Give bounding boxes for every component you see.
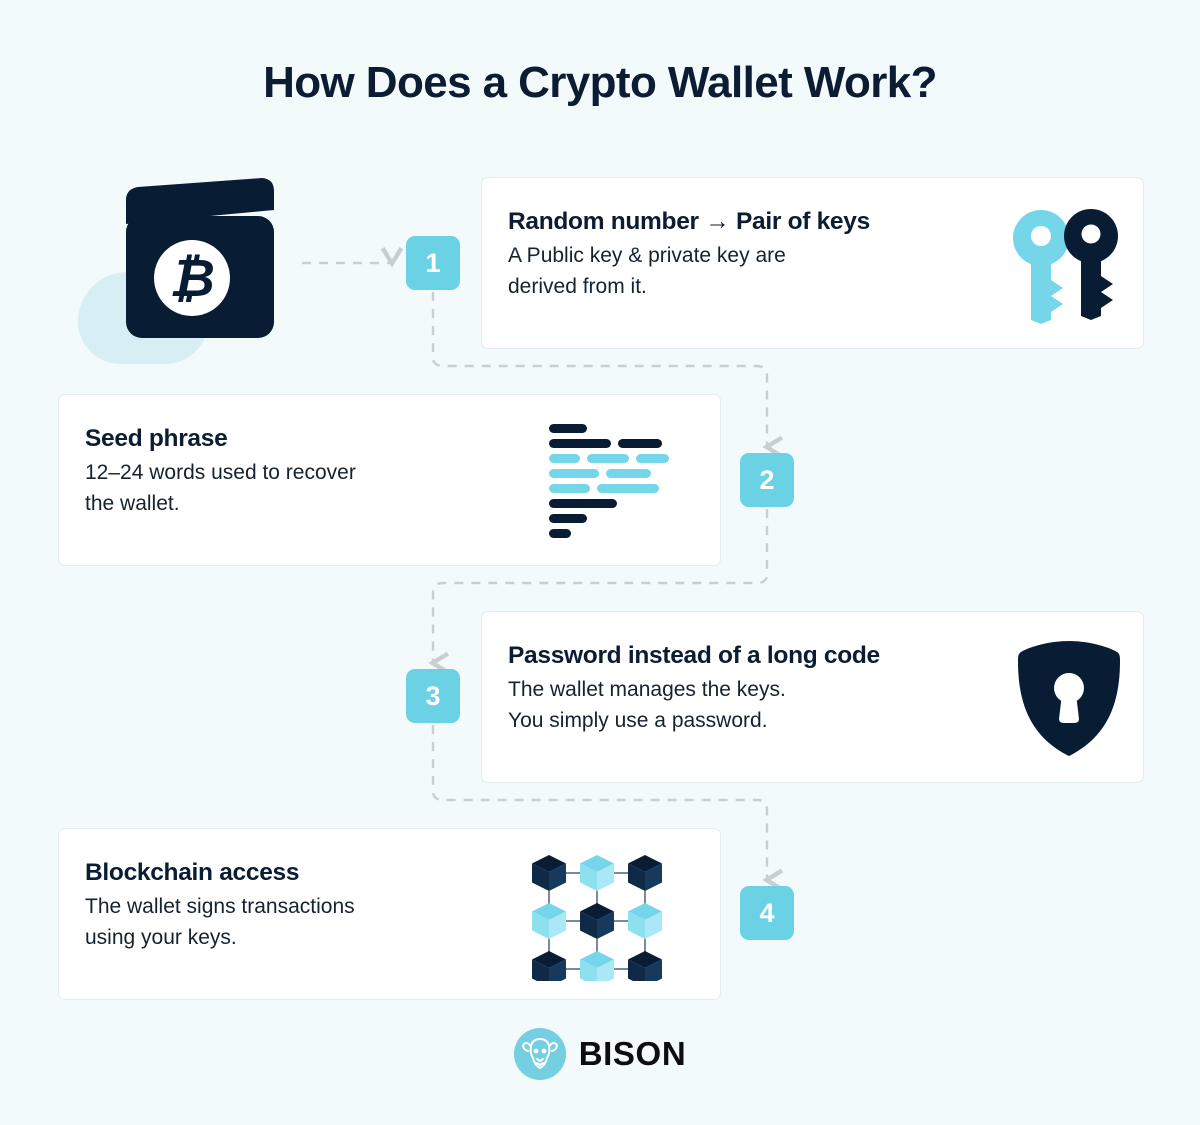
seed-bar [549, 514, 587, 523]
blockchain-cube [628, 903, 662, 939]
blockchain-cubes-icon [526, 851, 666, 986]
blockchain-cube [532, 951, 566, 981]
seed-bar [606, 469, 651, 478]
step-badge-1[interactable]: 1 [406, 236, 460, 290]
seed-bar-row [549, 454, 669, 463]
seed-bar [618, 439, 662, 448]
seed-bar [549, 454, 580, 463]
seed-bar [549, 439, 611, 448]
seed-bar [636, 454, 669, 463]
seed-bar [549, 529, 571, 538]
blockchain-cube [580, 903, 614, 939]
step-1-body: A Public key & private key are derived f… [508, 241, 870, 302]
step-badge-3[interactable]: 3 [406, 669, 460, 723]
seed-bar [549, 424, 587, 433]
step-card-1: Random number → Pair of keys A Public ke… [481, 177, 1144, 349]
step-2-title: Seed phrase [85, 425, 356, 453]
seed-bar-row [549, 514, 669, 523]
seed-bar-row [549, 529, 669, 538]
seed-bar-row [549, 469, 669, 478]
blockchain-cube [580, 855, 614, 891]
blockchain-cube [580, 951, 614, 981]
seed-phrase-icon [549, 424, 669, 544]
seed-bar-row [549, 439, 669, 448]
key-pair-icon [1011, 206, 1119, 329]
step-badge-2[interactable]: 2 [740, 453, 794, 507]
step-1-text: Random number → Pair of keys A Public ke… [508, 208, 870, 302]
step-3-body: The wallet manages the keys. You simply … [508, 675, 880, 736]
step-4-text: Blockchain access The wallet signs trans… [85, 859, 355, 953]
seed-bar-row [549, 484, 669, 493]
step-badge-4[interactable]: 4 [740, 886, 794, 940]
seed-bar [549, 484, 590, 493]
blockchain-cube [532, 855, 566, 891]
step-card-3: Password instead of a long code The wall… [481, 611, 1144, 783]
bison-wordmark: BISON [579, 1035, 687, 1073]
seed-bar-row [549, 499, 669, 508]
infographic-root: How Does a Crypto Wallet Work? ₿ Random … [0, 0, 1200, 1125]
step-3-text: Password instead of a long code The wall… [508, 642, 880, 736]
blockchain-cube [532, 903, 566, 939]
step-card-4: Blockchain access The wallet signs trans… [58, 828, 721, 1000]
step-4-body: The wallet signs transactions using your… [85, 892, 355, 953]
seed-bar [549, 469, 599, 478]
crypto-wallet-icon: ₿ [112, 178, 282, 343]
step-1-title: Random number → Pair of keys [508, 208, 870, 236]
step-4-title: Blockchain access [85, 859, 355, 887]
footer-brand: BISON [0, 1028, 1200, 1080]
seed-bar-row [549, 424, 669, 433]
step-2-body: 12–24 words used to recover the wallet. [85, 458, 356, 519]
shield-keyhole-icon [1017, 639, 1121, 762]
blockchain-cube [628, 855, 662, 891]
bitcoin-symbol: ₿ [169, 250, 215, 308]
blockchain-cube [628, 951, 662, 981]
step-3-title: Password instead of a long code [508, 642, 880, 670]
seed-bar [587, 454, 629, 463]
step-2-text: Seed phrase 12–24 words used to recover … [85, 425, 356, 519]
seed-bar [597, 484, 659, 493]
seed-bar [549, 499, 617, 508]
bison-head-icon [514, 1028, 566, 1080]
